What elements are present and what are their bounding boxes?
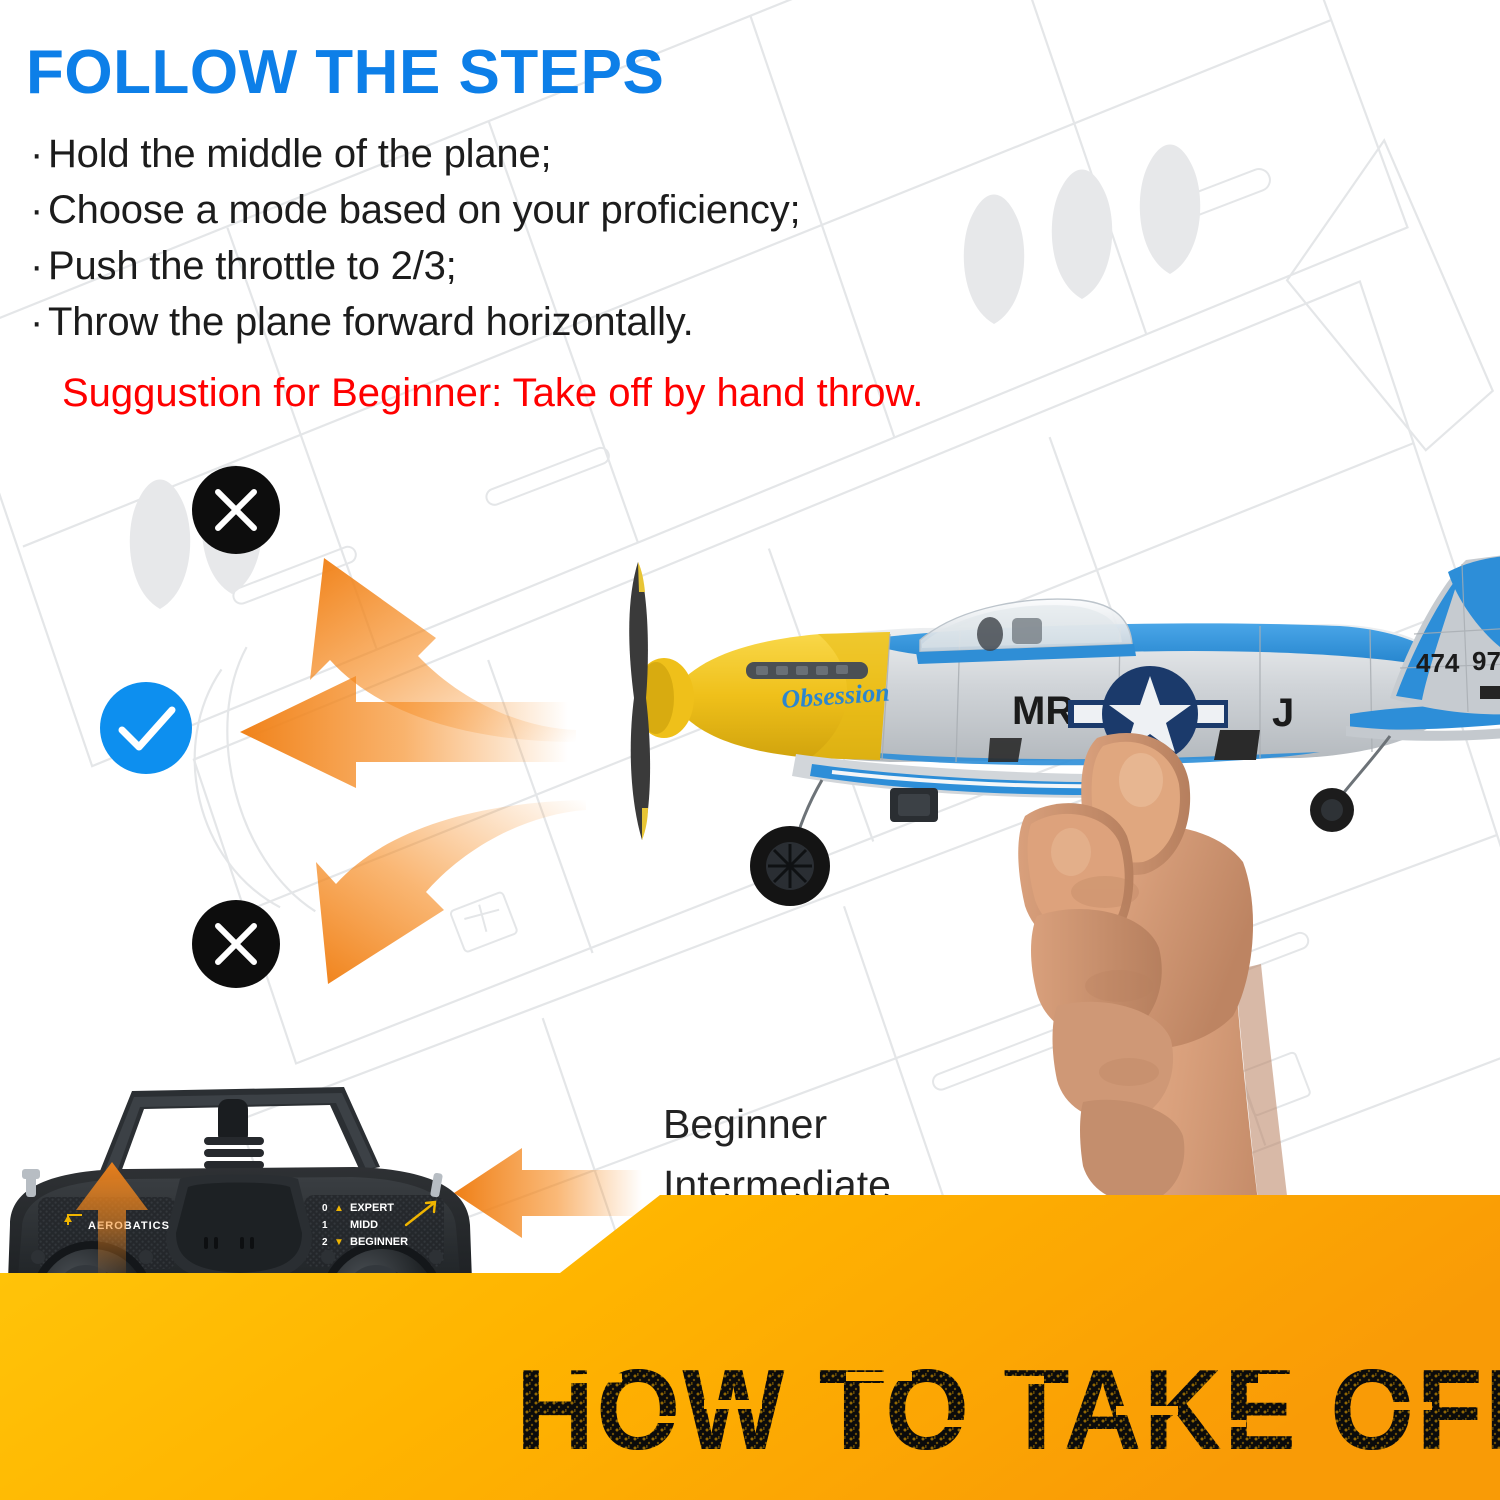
x-mark-icon (192, 900, 280, 988)
x-mark-icon (192, 466, 280, 554)
check-mark-icon (100, 682, 192, 774)
step-text: Choose a mode based on your proficiency; (48, 188, 800, 232)
steps-list: ·Hold the middle of the plane; ·Choose a… (30, 126, 1210, 350)
arrow-left-icon (238, 676, 568, 788)
step-text: Hold the middle of the plane; (48, 132, 551, 176)
arrow-down-left-icon (286, 800, 586, 990)
bullet-glyph: · (30, 294, 48, 350)
banner-title: HOW TO TAKE OFF (516, 1346, 1500, 1462)
plane-tail-number-right: 976 (1472, 646, 1500, 676)
infographic-page: FOLLOW THE STEPS ·Hold the middle of the… (0, 0, 1500, 1500)
page-title: FOLLOW THE STEPS (26, 42, 664, 104)
plane-tail-number-left: 474 (1416, 648, 1460, 678)
step-item: ·Choose a mode based on your proficiency… (30, 182, 1210, 238)
mode-label: Beginner (663, 1094, 891, 1155)
step-item: ·Hold the middle of the plane; (30, 126, 1210, 182)
step-item: ·Push the throttle to 2/3; (30, 238, 1210, 294)
antenna (204, 1099, 264, 1169)
bullet-glyph: · (30, 238, 48, 294)
step-text: Push the throttle to 2/3; (48, 244, 457, 288)
bullet-glyph: · (30, 126, 48, 182)
bullet-glyph: · (30, 182, 48, 238)
beginner-suggestion-note: Suggustion for Beginner: Take off by han… (62, 367, 923, 419)
step-item: ·Throw the plane forward horizontally. (30, 294, 1210, 350)
step-text: Throw the plane forward horizontally. (48, 300, 694, 344)
